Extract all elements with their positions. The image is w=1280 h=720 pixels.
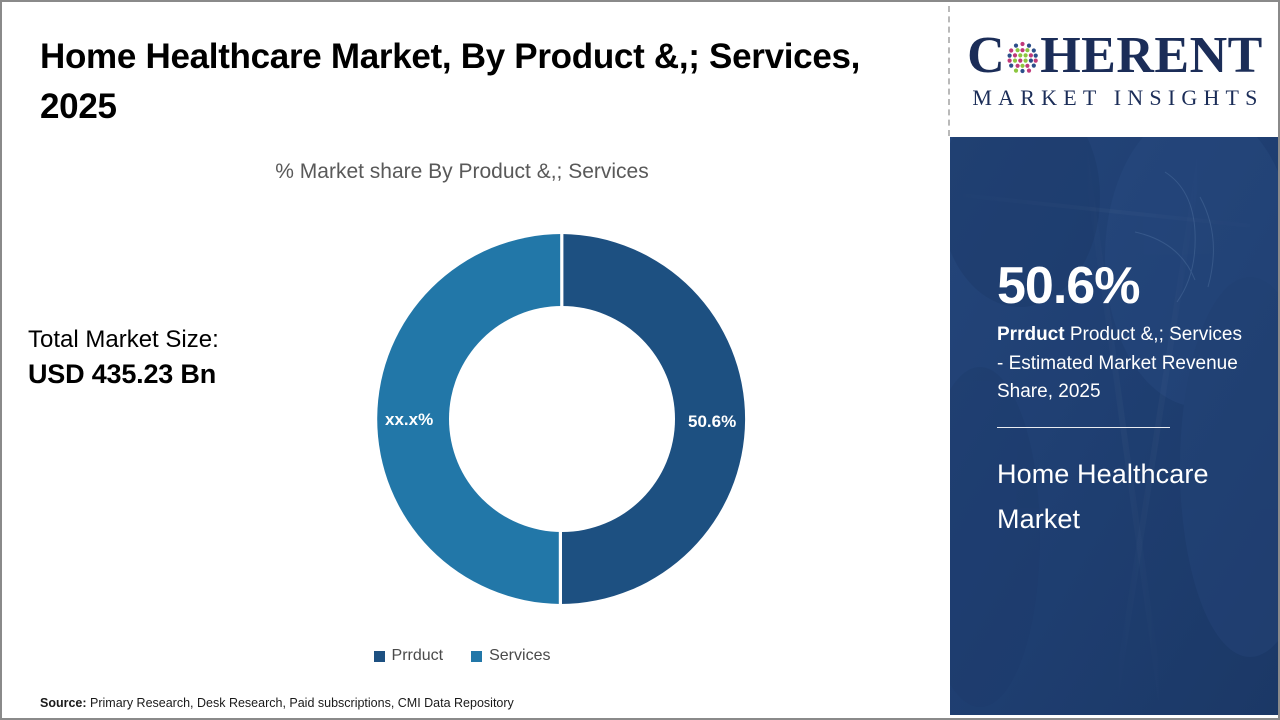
source-note: Source: Primary Research, Desk Research,… xyxy=(40,696,514,710)
logo-tagline: MARKET INSIGHTS xyxy=(966,85,1263,111)
legend-swatch-prrduct xyxy=(374,651,385,662)
stat-divider-rule xyxy=(997,427,1170,428)
legend-item-prrduct[interactable]: Prrduct xyxy=(374,647,444,665)
donut-label-services: xx.x% xyxy=(385,410,433,430)
stat-description: Prrduct Product &,; Services - Estimated… xyxy=(997,321,1242,407)
source-label: Source: xyxy=(40,696,87,710)
total-market-size-value: USD 435.23 Bn xyxy=(28,356,328,392)
chart-subtitle: % Market share By Product &,; Services xyxy=(2,160,922,184)
donut-hole xyxy=(449,306,675,532)
globe-dots-icon xyxy=(1006,40,1039,76)
donut-chart: xx.x% 50.6% xyxy=(377,234,747,604)
page-title: Home Healthcare Market, By Product &,; S… xyxy=(40,32,900,132)
sidebar: C xyxy=(950,2,1280,718)
brand-logo[interactable]: C xyxy=(950,2,1280,137)
legend-item-services[interactable]: Services xyxy=(471,647,550,665)
stat-description-bold: Prrduct xyxy=(997,324,1065,345)
legend-label-services: Services xyxy=(489,647,550,665)
logo-letter-c: C xyxy=(967,30,1005,82)
legend-label-prrduct: Prrduct xyxy=(392,647,444,665)
legend-swatch-services xyxy=(471,651,482,662)
stat-value: 50.6% xyxy=(997,257,1242,315)
market-name: Home Healthcare Market xyxy=(997,452,1242,542)
infographic-page: Home Healthcare Market, By Product &,; S… xyxy=(0,0,1280,720)
logo-wordmark: C xyxy=(967,29,1263,83)
chart-legend: Prrduct Services xyxy=(2,647,922,665)
stat-panel: 50.6% Prrduct Product &,; Services - Est… xyxy=(950,137,1280,715)
logo-letters-rest: HERENT xyxy=(1040,30,1263,82)
total-market-size-block: Total Market Size: USD 435.23 Bn xyxy=(28,324,328,392)
main-content-area: Home Healthcare Market, By Product &,; S… xyxy=(2,2,949,718)
donut-label-prrduct: 50.6% xyxy=(688,412,736,432)
total-market-size-label: Total Market Size: xyxy=(28,324,328,356)
stat-content: 50.6% Prrduct Product &,; Services - Est… xyxy=(997,257,1242,542)
source-value: Primary Research, Desk Research, Paid su… xyxy=(87,696,514,710)
